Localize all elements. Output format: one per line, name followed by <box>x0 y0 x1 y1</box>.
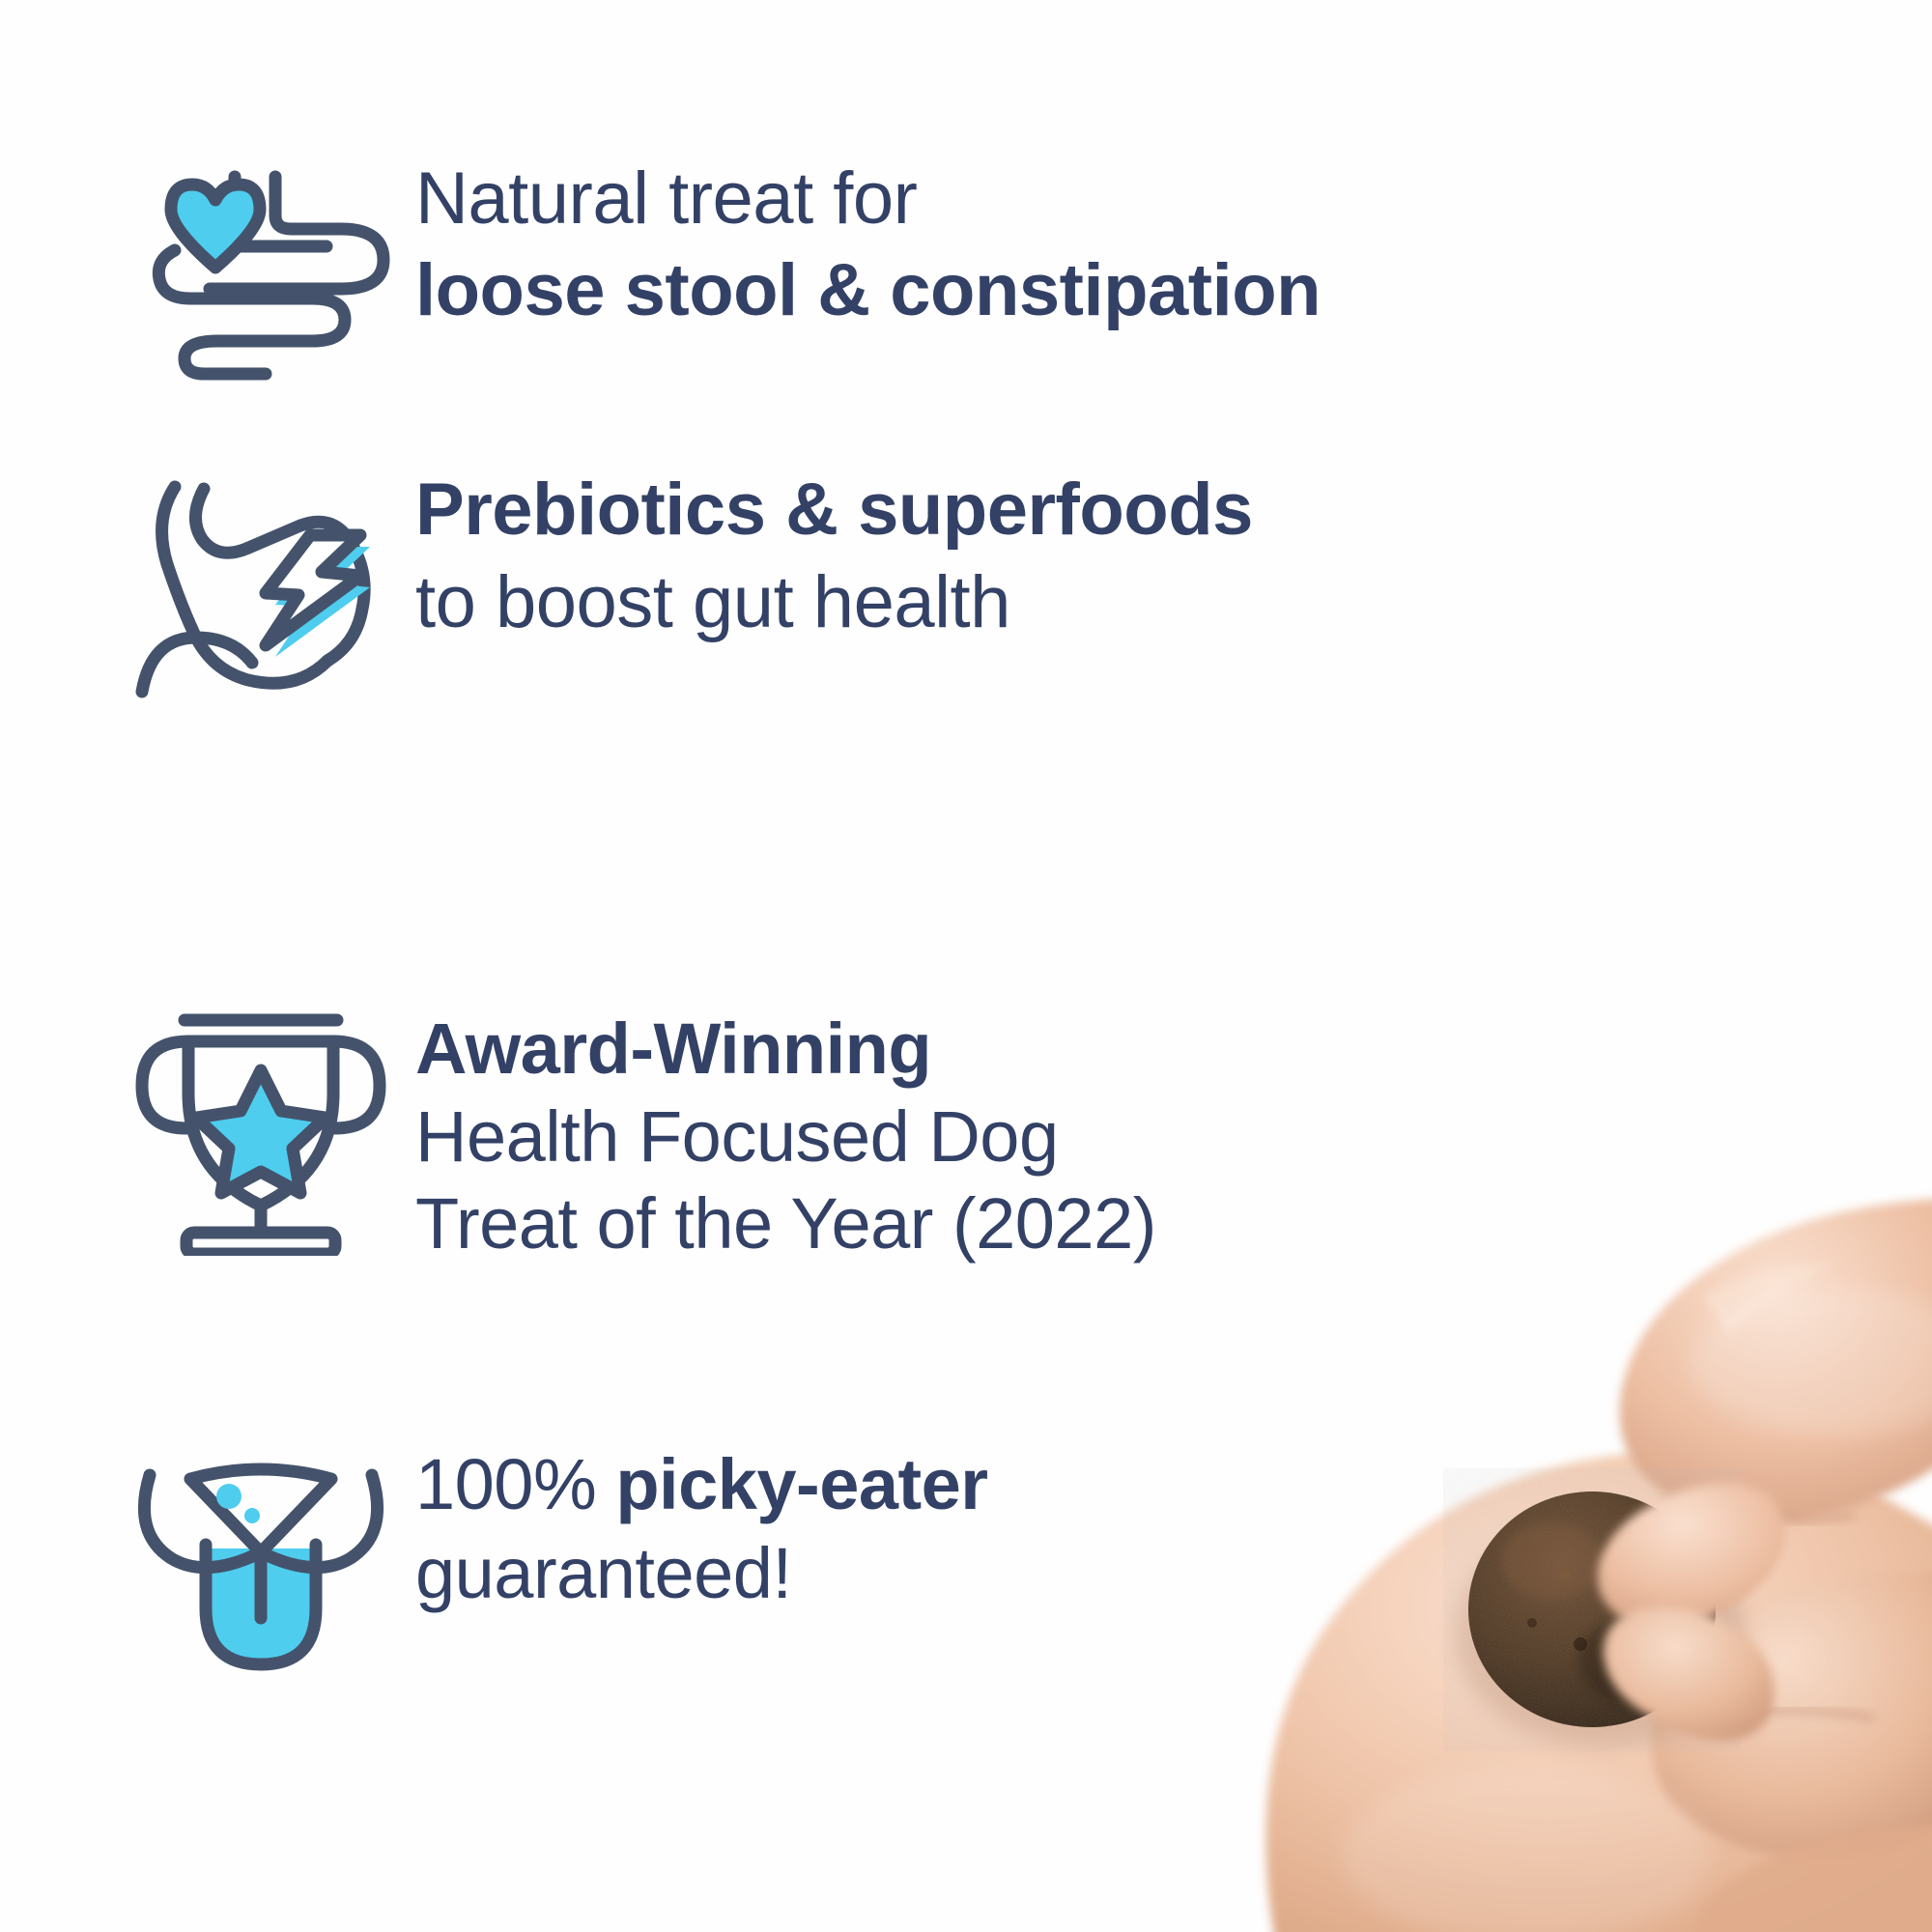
feature-line: Health Focused Dog <box>415 1094 1156 1180</box>
feature-line-prefix: 100% <box>415 1444 615 1524</box>
feature-line: guaranteed! <box>415 1530 988 1617</box>
treat-shadow <box>1455 1519 1745 1747</box>
heart-icon <box>171 185 260 268</box>
feature-line: Award-Winning <box>415 1005 1156 1094</box>
stomach-lightning-icon <box>116 464 406 705</box>
intestine-heart-icon <box>116 155 406 386</box>
skin-highlight <box>1690 1287 1932 1437</box>
palm-highlight <box>1343 1766 1710 1932</box>
index-finger <box>1619 1198 1932 1520</box>
index-fingertip <box>1598 1484 1785 1628</box>
feature-text-picky-eater: 100% picky-eater guaranteed! <box>406 1439 988 1617</box>
thumb-crease <box>1673 1711 1874 1725</box>
feature-line: loose stool & constipation <box>415 243 1321 338</box>
dog-treat <box>1468 1492 1716 1727</box>
feature-line: Prebiotics & superfoods <box>415 464 1253 556</box>
feature-text-award: Award-Winning Health Focused Dog Treat o… <box>406 1005 1156 1267</box>
feature-line: Treat of the Year (2022) <box>415 1180 1156 1267</box>
lower-fingers <box>1690 1826 1932 1932</box>
feature-line: Natural treat for <box>415 155 1321 243</box>
knuckle-crease <box>1662 1497 1855 1520</box>
feature-line: 100% picky-eater <box>415 1439 988 1530</box>
feature-line-emphasis: picky-eater <box>615 1444 987 1524</box>
feature-text-gut-health: Natural treat for loose stool & constipa… <box>406 155 1321 338</box>
droplet-large-icon <box>216 1484 241 1509</box>
feature-line: to boost gut health <box>415 556 1253 649</box>
index-nail-highlight <box>1702 1264 1835 1335</box>
infographic-canvas: Natural treat for loose stool & constipa… <box>0 0 1932 1932</box>
thumb <box>1651 1573 1932 1860</box>
droplet-small-icon <box>244 1508 260 1523</box>
feature-row-gut-health: Natural treat for loose stool & constipa… <box>116 155 1321 386</box>
feature-row-prebiotics: Prebiotics & superfoods to boost gut hea… <box>116 464 1253 705</box>
thumb-fingertip <box>1604 1606 1775 1741</box>
mouth-tongue-icon <box>116 1439 406 1690</box>
feature-row-award: Award-Winning Health Focused Dog Treat o… <box>116 1005 1156 1267</box>
trophy-star-icon <box>116 1005 406 1256</box>
feature-row-picky-eater: 100% picky-eater guaranteed! <box>116 1439 988 1690</box>
trophy-base <box>186 1233 335 1254</box>
feature-text-prebiotics: Prebiotics & superfoods to boost gut hea… <box>406 464 1253 649</box>
palm <box>1265 1450 1932 1932</box>
